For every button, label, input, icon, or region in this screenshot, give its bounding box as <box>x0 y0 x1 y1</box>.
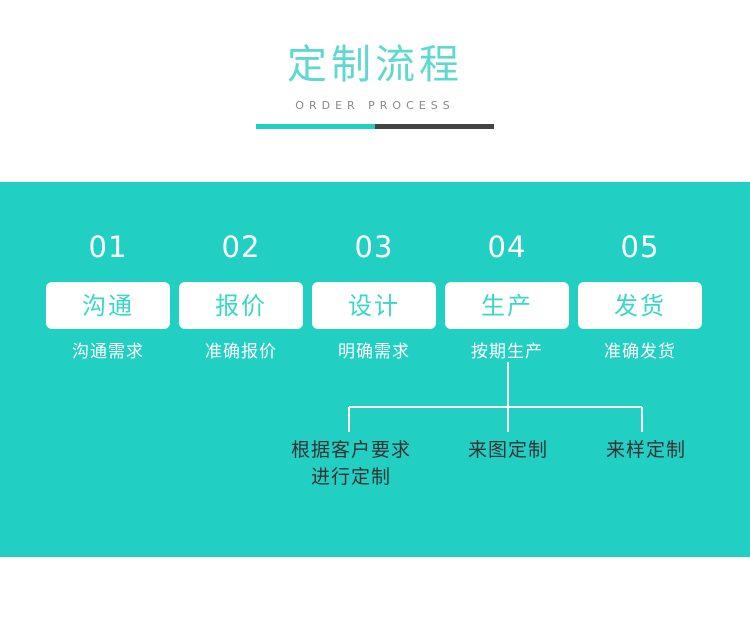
step-number: 02 <box>179 230 303 264</box>
step-number: 04 <box>445 230 569 264</box>
step-card[interactable]: 报价 <box>179 282 303 329</box>
step-description: 准确报价 <box>179 341 303 363</box>
page-subtitle: ORDER PROCESS <box>0 90 750 113</box>
divider-segment-dark <box>375 124 494 129</box>
step-card-label: 沟通 <box>82 292 134 320</box>
divider-segment-teal <box>256 124 375 129</box>
step-description: 按期生产 <box>445 341 569 363</box>
step-number: 03 <box>312 230 436 264</box>
process-steps: 01 沟通 沟通需求 02 报价 准确报价 03 设计 明确需求 04 生产 <box>46 230 704 363</box>
page-title: 定制流程 <box>0 0 750 90</box>
process-step[interactable]: 01 沟通 沟通需求 <box>46 230 170 363</box>
process-band: 01 沟通 沟通需求 02 报价 准确报价 03 设计 明确需求 04 生产 <box>0 182 750 557</box>
step-number: 01 <box>46 230 170 264</box>
step-card[interactable]: 发货 <box>578 282 702 329</box>
process-step[interactable]: 05 发货 准确发货 <box>578 230 702 363</box>
step-description: 明确需求 <box>312 341 436 363</box>
step-card-label: 报价 <box>215 292 267 320</box>
page-header: 定制流程 ORDER PROCESS <box>0 0 750 182</box>
step-card-label: 发货 <box>614 292 666 320</box>
step-card-label: 生产 <box>481 292 533 320</box>
process-step[interactable]: 03 设计 明确需求 <box>312 230 436 363</box>
step-card-label: 设计 <box>348 292 400 320</box>
step-card[interactable]: 设计 <box>312 282 436 329</box>
branch-label-by-sample: 来样定制 <box>574 437 718 464</box>
branch-label-line-1: 根据客户要求 <box>271 437 431 464</box>
branch-label-group: 根据客户要求 进行定制 来图定制 来样定制 <box>0 437 750 527</box>
process-step[interactable]: 02 报价 准确报价 <box>179 230 303 363</box>
title-divider <box>256 124 494 129</box>
branch-label-by-drawing: 来图定制 <box>436 437 580 464</box>
step-description: 沟通需求 <box>46 341 170 363</box>
header-content: 定制流程 ORDER PROCESS <box>0 0 750 129</box>
process-step[interactable]: 04 生产 按期生产 <box>445 230 569 363</box>
step-number: 05 <box>578 230 702 264</box>
branch-label-custom-request: 根据客户要求 进行定制 <box>271 437 431 491</box>
branch-label-line-2: 进行定制 <box>271 464 431 491</box>
step-card[interactable]: 沟通 <box>46 282 170 329</box>
step-description: 准确发货 <box>578 341 702 363</box>
step-card[interactable]: 生产 <box>445 282 569 329</box>
